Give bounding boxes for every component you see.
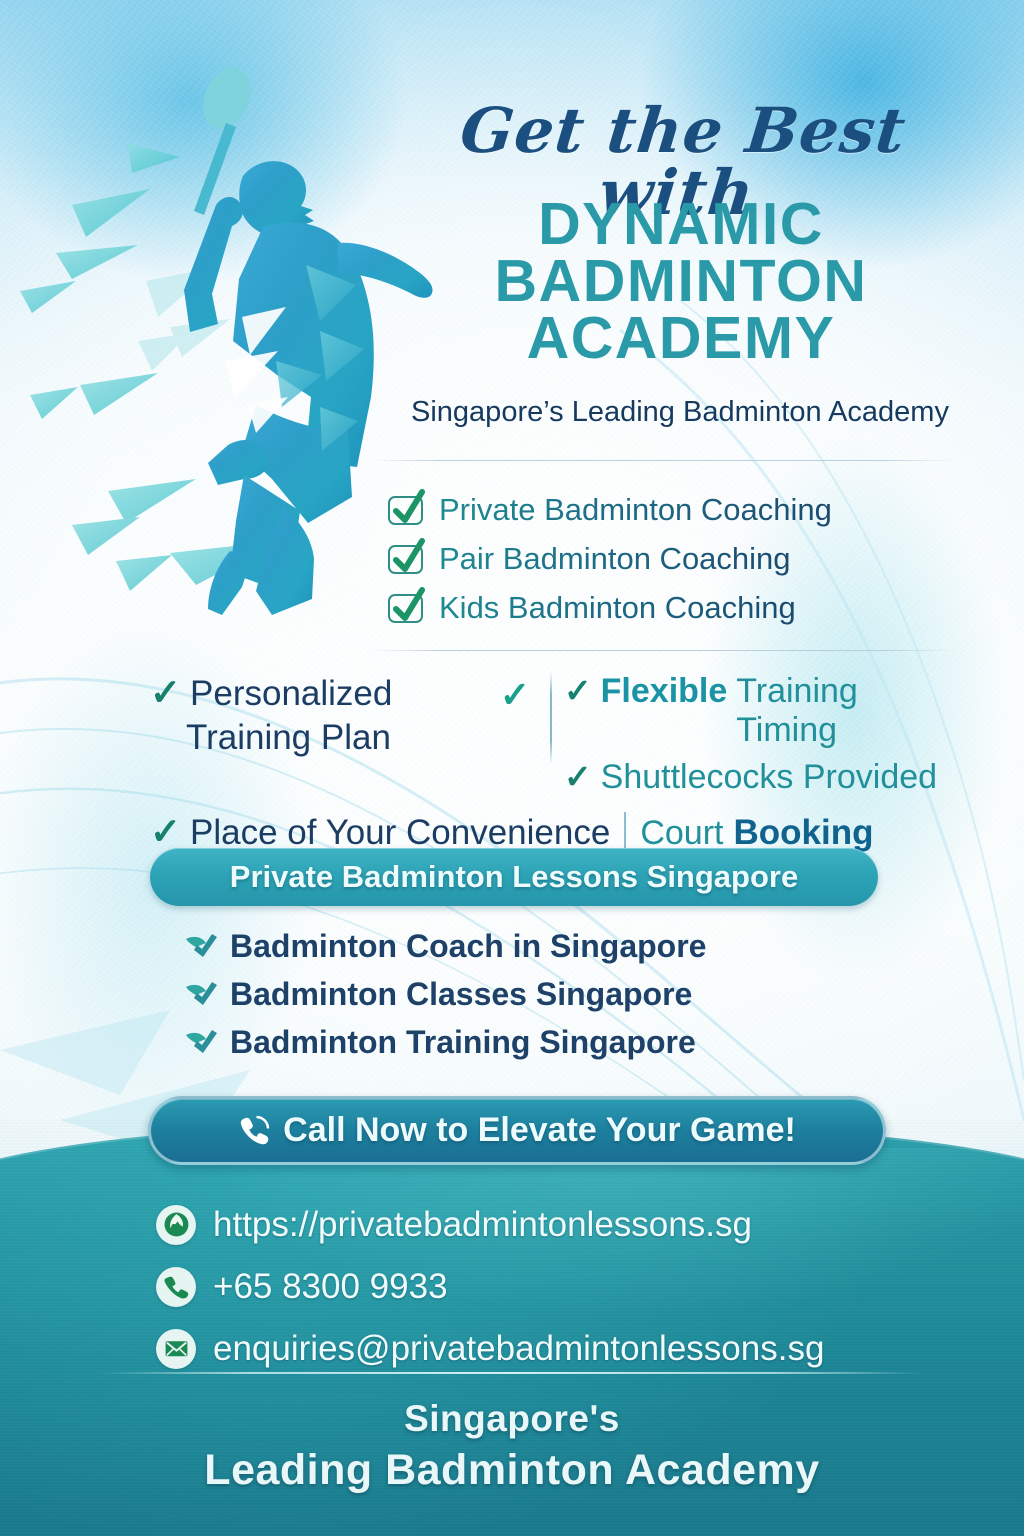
feature-personalized-line1: Personalized <box>190 672 392 716</box>
keyword-label: Badminton Coach in Singapore <box>230 928 706 965</box>
phone-icon <box>238 1114 271 1147</box>
poster-root: Get the Best with DYNAMIC BADMINTON ACAD… <box>0 0 1024 1536</box>
list-item: Badminton Coach in Singapore <box>184 922 824 970</box>
poster-content: Get the Best with DYNAMIC BADMINTON ACAD… <box>0 0 1024 1536</box>
shuttlecock-bullet-icon <box>184 933 230 959</box>
globe-icon <box>156 1205 196 1245</box>
keyword-list: Badminton Coach in Singapore Badminton C… <box>184 922 824 1066</box>
feature-shuttlecocks-label: Shuttlecocks Provided <box>601 758 937 797</box>
feature-personalized-line2: Training Plan <box>186 716 480 760</box>
feature-vertical-divider <box>550 672 552 764</box>
list-item: Badminton Classes Singapore <box>184 970 824 1018</box>
feature-booking-label: Booking <box>733 813 873 853</box>
shuttlecock-bullet-icon <box>184 1029 230 1055</box>
brand-line-3: ACADEMY <box>398 310 964 367</box>
checkbox-check-icon <box>388 496 423 525</box>
checklist-label: Pair Badminton Coaching <box>439 541 791 577</box>
phone-icon <box>156 1267 196 1307</box>
contact-email[interactable]: enquiries@privatebadmintonlessons.sg <box>156 1320 936 1377</box>
email-address: enquiries@privatebadmintonlessons.sg <box>213 1329 824 1369</box>
phone-number: +65 8300 9933 <box>213 1267 448 1307</box>
call-now-label: Call Now to Elevate Your Game! <box>283 1111 796 1150</box>
list-item: Badminton Training Singapore <box>184 1018 824 1066</box>
website-url: https://privatebadmintonlessons.sg <box>213 1205 752 1245</box>
lessons-banner-label: Private Badminton Lessons Singapore <box>230 859 798 895</box>
contact-list: https://privatebadmintonlessons.sg +65 8… <box>156 1196 936 1382</box>
feature-personalized: ✓ Personalized Training Plan <box>150 672 480 761</box>
feature-flexible-rest: Training Timing <box>736 672 950 750</box>
footer-line-1: Singapore's <box>0 1398 1024 1440</box>
tagline: Singapore’s Leading Badminton Academy <box>360 396 1000 429</box>
feature-flexible: ✓ Flexible Training Timing <box>564 672 950 750</box>
checklist-item: Kids Badminton Coaching <box>388 584 948 632</box>
keyword-label: Badminton Training Singapore <box>230 1024 696 1061</box>
lessons-banner[interactable]: Private Badminton Lessons Singapore <box>150 848 878 906</box>
check-icon: ✓ <box>150 813 181 850</box>
contact-phone[interactable]: +65 8300 9933 <box>156 1258 936 1315</box>
checklist-label: Private Badminton Coaching <box>439 492 832 528</box>
check-icon: ✓ <box>564 760 592 793</box>
checklist-item: Private Badminton Coaching <box>388 486 948 534</box>
shuttlecock-bullet-icon <box>184 981 230 1007</box>
checklist-item: Pair Badminton Coaching <box>388 535 948 583</box>
center-check-icon: ✓ <box>480 672 550 716</box>
check-icon: ✓ <box>564 674 592 707</box>
services-checklist: Private Badminton Coaching Pair Badminto… <box>388 486 948 633</box>
feature-shuttlecocks: ✓ Shuttlecocks Provided <box>564 758 950 797</box>
footer: Singapore's Leading Badminton Academy <box>0 1398 1024 1495</box>
keyword-label: Badminton Classes Singapore <box>230 976 692 1013</box>
features-block: ✓ Personalized Training Plan ✓ ✓ Flexibl… <box>150 672 950 855</box>
envelope-icon <box>156 1329 196 1369</box>
divider-top <box>370 460 954 461</box>
call-now-button[interactable]: Call Now to Elevate Your Game! <box>148 1096 886 1165</box>
checkbox-check-icon <box>388 545 423 574</box>
feature-flexible-bold: Flexible <box>601 672 728 711</box>
checkbox-check-icon <box>388 594 423 623</box>
contact-website[interactable]: https://privatebadmintonlessons.sg <box>156 1196 936 1253</box>
footer-line-2: Leading Badminton Academy <box>0 1446 1024 1495</box>
brand-line-1: DYNAMIC <box>398 196 964 253</box>
brand-line-2: BADMINTON <box>398 253 964 310</box>
check-icon: ✓ <box>150 674 181 711</box>
brand-title: DYNAMIC BADMINTON ACADEMY <box>398 196 964 368</box>
checklist-label: Kids Badminton Coaching <box>439 590 796 626</box>
divider-middle <box>370 650 954 651</box>
